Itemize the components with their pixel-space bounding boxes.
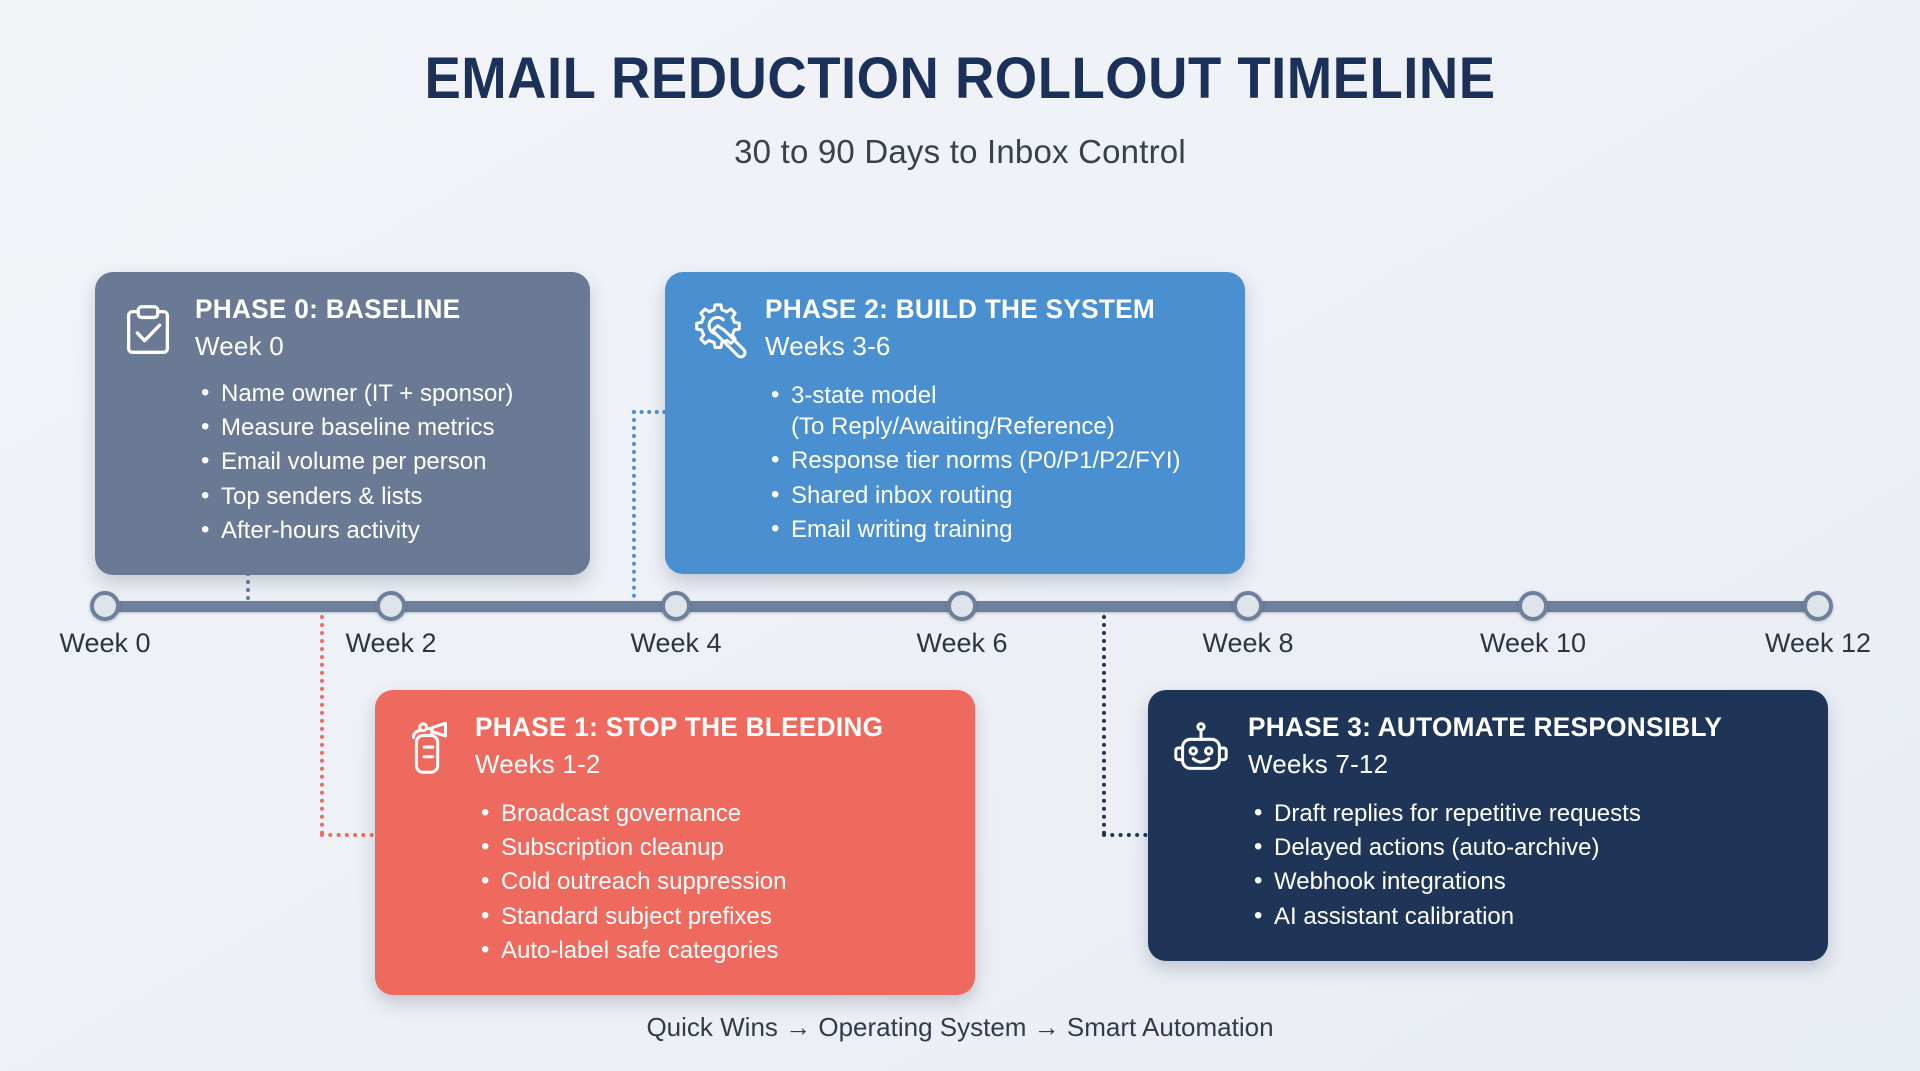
list-item: Email writing training — [765, 514, 1219, 545]
list-item: Draft replies for repetitive requests — [1248, 798, 1802, 829]
robot-icon — [1170, 712, 1232, 780]
card-body: PHASE 0: BASELINE Week 0 Name owner (IT … — [195, 294, 564, 549]
timeline-tick-label: Week 12 — [1765, 628, 1871, 659]
clipboard-check-icon — [117, 294, 179, 362]
list-item: 3-state model (To Reply/Awaiting/Referen… — [765, 380, 1219, 442]
timeline-tick-label: Week 2 — [345, 628, 436, 659]
timeline-tick[interactable] — [90, 591, 120, 621]
list-item: Auto-label safe categories — [475, 935, 949, 966]
card-body: PHASE 3: AUTOMATE RESPONSIBLY Weeks 7-12… — [1248, 712, 1802, 935]
card-bullet-list: Name owner (IT + sponsor)Measure baselin… — [195, 378, 564, 546]
list-item: Measure baseline metrics — [195, 412, 564, 443]
header: EMAIL REDUCTION ROLLOUT TIMELINE 30 to 9… — [0, 48, 1920, 171]
card-title: PHASE 0: BASELINE — [195, 294, 553, 325]
list-item: Top senders & lists — [195, 481, 564, 512]
list-item: Name owner (IT + sponsor) — [195, 378, 564, 409]
timeline-tick-label: Week 4 — [630, 628, 721, 659]
card-title: PHASE 2: BUILD THE SYSTEM — [765, 294, 1205, 325]
timeline-tick[interactable] — [947, 591, 977, 621]
timeline-tick-label: Week 10 — [1480, 628, 1586, 659]
list-item: After-hours activity — [195, 515, 564, 546]
connector-phase2-vertical — [632, 410, 636, 606]
timeline-tick-label: Week 0 — [59, 628, 150, 659]
list-item: Delayed actions (auto-archive) — [1248, 832, 1802, 863]
connector-phase3-vertical — [1102, 607, 1106, 835]
phase-card-phase1[interactable]: PHASE 1: STOP THE BLEEDING Weeks 1-2 Bro… — [375, 690, 975, 995]
card-weeks: Weeks 3-6 — [765, 331, 1219, 362]
list-item: Shared inbox routing — [765, 480, 1219, 511]
connector-phase1-horizontal — [320, 833, 382, 837]
connector-phase1-vertical — [320, 607, 324, 835]
card-title: PHASE 3: AUTOMATE RESPONSIBLY — [1248, 712, 1785, 743]
gear-wrench-icon — [687, 294, 749, 362]
phase-card-phase3[interactable]: PHASE 3: AUTOMATE RESPONSIBLY Weeks 7-12… — [1148, 690, 1828, 961]
card-weeks: Week 0 — [195, 331, 564, 362]
card-bullet-list: Draft replies for repetitive requestsDel… — [1248, 798, 1802, 932]
list-item: Subscription cleanup — [475, 832, 949, 863]
timeline-tick[interactable] — [1518, 591, 1548, 621]
fire-extinguisher-icon — [397, 712, 459, 780]
list-item: Email volume per person — [195, 446, 564, 477]
timeline-tick-label: Week 8 — [1202, 628, 1293, 659]
timeline-line — [95, 601, 1825, 612]
list-item: Broadcast governance — [475, 798, 949, 829]
page-subtitle: 30 to 90 Days to Inbox Control — [0, 133, 1920, 171]
timeline-tick[interactable] — [1803, 591, 1833, 621]
list-item: AI assistant calibration — [1248, 901, 1802, 932]
timeline-tick[interactable] — [661, 591, 691, 621]
list-item: Standard subject prefixes — [475, 901, 949, 932]
card-body: PHASE 1: STOP THE BLEEDING Weeks 1-2 Bro… — [475, 712, 949, 969]
footer-note: Quick Wins → Operating System → Smart Au… — [0, 1012, 1920, 1043]
card-title: PHASE 1: STOP THE BLEEDING — [475, 712, 935, 743]
timeline-tick[interactable] — [376, 591, 406, 621]
card-bullet-list: 3-state model (To Reply/Awaiting/Referen… — [765, 380, 1219, 545]
list-item: Webhook integrations — [1248, 866, 1802, 897]
card-body: PHASE 2: BUILD THE SYSTEM Weeks 3-6 3-st… — [765, 294, 1219, 548]
card-weeks: Weeks 1-2 — [475, 749, 949, 780]
phase-card-phase2[interactable]: PHASE 2: BUILD THE SYSTEM Weeks 3-6 3-st… — [665, 272, 1245, 574]
timeline-tick[interactable] — [1233, 591, 1263, 621]
list-item: Response tier norms (P0/P1/P2/FYI) — [765, 445, 1219, 476]
timeline-tick-label: Week 6 — [916, 628, 1007, 659]
card-bullet-list: Broadcast governanceSubscription cleanup… — [475, 798, 949, 966]
phase-card-phase0[interactable]: PHASE 0: BASELINE Week 0 Name owner (IT … — [95, 272, 590, 575]
list-item: Cold outreach suppression — [475, 866, 949, 897]
card-weeks: Weeks 7-12 — [1248, 749, 1802, 780]
page-title: EMAIL REDUCTION ROLLOUT TIMELINE — [58, 48, 1863, 111]
